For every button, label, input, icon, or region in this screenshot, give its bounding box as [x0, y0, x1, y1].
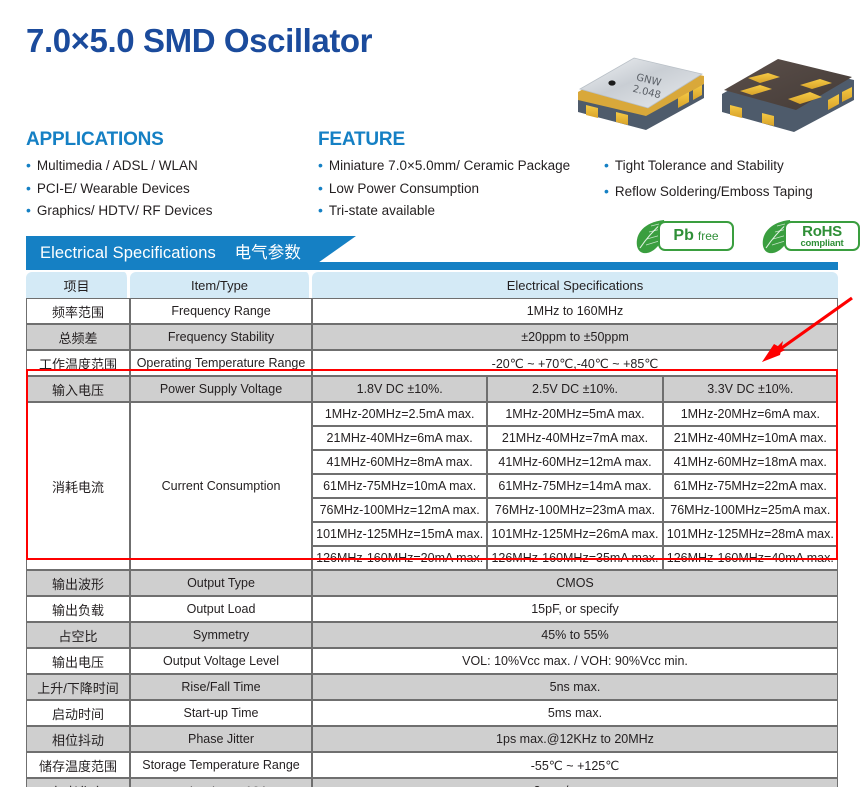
- row-label-cn: 上升/下降时间: [26, 674, 130, 700]
- row-label-cn: 启动时间: [26, 700, 130, 726]
- table-row: 输出电压 Output Voltage Level VOL: 10%Vcc ma…: [26, 648, 838, 674]
- cc-value: 101MHz-125MHz=15mA max.: [312, 522, 487, 546]
- compliant-label: compliant: [800, 239, 843, 249]
- column-header-specifications: Electrical Specifications: [312, 272, 838, 298]
- row-label-cn: 输出电压: [26, 648, 130, 674]
- free-label: free: [698, 230, 719, 242]
- table-row: 输出负载 Output Load 15pF, or specify: [26, 596, 838, 622]
- cc-value: 1MHz-20MHz=6mA max.: [663, 402, 838, 426]
- row-value: 1MHz to 160MHz: [312, 298, 838, 324]
- list-item: • Reflow Soldering/Emboss Taping: [604, 182, 813, 202]
- bullet-icon: •: [26, 201, 31, 220]
- cc-value: 76MHz-100MHz=12mA max.: [312, 498, 487, 522]
- table-row: 年老化率 Aging ( at 25℃ ) ±3ppm/year max.: [26, 778, 838, 787]
- row-value: CMOS: [312, 570, 838, 596]
- list-item-label: Graphics/ HDTV/ RF Devices: [37, 201, 213, 221]
- row-label-cn: 年老化率: [26, 778, 130, 787]
- bullet-icon: •: [604, 156, 609, 175]
- row-value: 5ns max.: [312, 674, 838, 700]
- list-item: • PCI-E/ Wearable Devices: [26, 179, 212, 199]
- datasheet-page: 7.0×5.0 SMD Oscillator: [0, 0, 866, 787]
- list-item: • Tight Tolerance and Stability: [604, 156, 813, 176]
- row-label-en: Output Load: [130, 596, 312, 622]
- list-item-label: Reflow Soldering/Emboss Taping: [615, 182, 813, 202]
- chip-bottom-view: [722, 59, 854, 132]
- row-label-en: Storage Temperature Range: [130, 752, 312, 778]
- cc-value: 126MHz-160MHz=35mA max.: [487, 546, 662, 570]
- current-consumption-label-cn: 消耗电流: [26, 402, 130, 570]
- list-item-label: Miniature 7.0×5.0mm/ Ceramic Package: [329, 156, 570, 176]
- banner-title-en: Electrical Specifications: [40, 244, 216, 262]
- feature-heading: FEATURE: [318, 129, 405, 151]
- cc-value: 21MHz-40MHz=7mA max.: [487, 426, 662, 450]
- row-label-en: Start-up Time: [130, 700, 312, 726]
- list-item: • Multimedia / ADSL / WLAN: [26, 156, 212, 176]
- product-image-group: GNW 2.048: [572, 42, 860, 142]
- row-label-en: Output Type: [130, 570, 312, 596]
- power-supply-value-2: 2.5V DC ±10%.: [487, 376, 662, 402]
- cc-value: 61MHz-75MHz=14mA max.: [487, 474, 662, 498]
- row-value: 1ps max.@12KHz to 20MHz: [312, 726, 838, 752]
- row-label-cn: 输出负载: [26, 596, 130, 622]
- table-row: 上升/下降时间 Rise/Fall Time 5ns max.: [26, 674, 838, 700]
- row-label-cn: 总频差: [26, 324, 130, 350]
- table-row: 占空比 Symmetry 45% to 55%: [26, 622, 838, 648]
- bullet-icon: •: [318, 179, 323, 198]
- rohs-label: RoHS: [802, 224, 842, 239]
- cc-value: 41MHz-60MHz=18mA max.: [663, 450, 838, 474]
- row-label-en: Output Voltage Level: [130, 648, 312, 674]
- row-label-cn: 占空比: [26, 622, 130, 648]
- cc-value: 41MHz-60MHz=12mA max.: [487, 450, 662, 474]
- chip-top-view: GNW 2.048: [578, 58, 704, 130]
- row-label-en: Aging ( at 25℃ ): [130, 778, 312, 787]
- bullet-icon: •: [318, 201, 323, 220]
- table-row: 输出波形 Output Type CMOS: [26, 570, 838, 596]
- table-body: 频率范围 Frequency Range 1MHz to 160MHz 总频差 …: [26, 298, 838, 787]
- list-item: • Miniature 7.0×5.0mm/ Ceramic Package: [318, 156, 570, 176]
- row-value: -20℃ ~ +70℃,-40℃ ~ +85℃: [312, 350, 838, 376]
- table-head: 项目 Item/Type Electrical Specifications: [26, 272, 838, 298]
- column-header-item-cn: 项目: [26, 272, 130, 298]
- row-label-cn: 工作温度范围: [26, 350, 130, 376]
- row-label-cn: 输入电压: [26, 376, 130, 402]
- pb-label: Pb: [673, 228, 693, 244]
- row-value: ±3ppm/year max.: [312, 778, 838, 787]
- electrical-specifications-table: 项目 Item/Type Electrical Specifications 频…: [26, 272, 838, 787]
- bullet-icon: •: [318, 156, 323, 175]
- rohs-badge: RoHS compliant: [760, 216, 860, 256]
- row-label-cn: 输出波形: [26, 570, 130, 596]
- applications-heading: APPLICATIONS: [26, 129, 164, 151]
- row-value: -55℃ ~ +125℃: [312, 752, 838, 778]
- cc-value: 1MHz-20MHz=2.5mA max.: [312, 402, 487, 426]
- list-item: • Tri-state available: [318, 201, 570, 221]
- column-header-item-en: Item/Type: [130, 272, 312, 298]
- cc-value: 1MHz-20MHz=5mA max.: [487, 402, 662, 426]
- feature-list-right: • Tight Tolerance and Stability • Reflow…: [604, 156, 813, 207]
- list-item-label: Multimedia / ADSL / WLAN: [37, 156, 198, 176]
- bullet-icon: •: [604, 182, 609, 201]
- rohs-plate: RoHS compliant: [784, 221, 860, 251]
- row-label-en: Rise/Fall Time: [130, 674, 312, 700]
- table-row-power-supply: 输入电压 Power Supply Voltage 1.8V DC ±10%. …: [26, 376, 838, 402]
- cc-value: 61MHz-75MHz=22mA max.: [663, 474, 838, 498]
- row-label-en: Operating Temperature Range: [130, 350, 312, 376]
- table-row: 启动时间 Start-up Time 5ms max.: [26, 700, 838, 726]
- current-consumption-label-en: Current Consumption: [130, 402, 312, 570]
- row-label-en: Power Supply Voltage: [130, 376, 312, 402]
- cc-value: 101MHz-125MHz=28mA max.: [663, 522, 838, 546]
- table-row-current-consumption: 消耗电流 Current Consumption 1MHz-20MHz=2.5m…: [26, 402, 838, 426]
- cc-value: 76MHz-100MHz=23mA max.: [487, 498, 662, 522]
- row-label-cn: 相位抖动: [26, 726, 130, 752]
- pb-free-plate: Pb free: [658, 221, 734, 251]
- row-label-en: Frequency Stability: [130, 324, 312, 350]
- page-title: 7.0×5.0 SMD Oscillator: [26, 22, 372, 60]
- cc-value: 21MHz-40MHz=6mA max.: [312, 426, 487, 450]
- row-label-en: Frequency Range: [130, 298, 312, 324]
- banner-title-cn: 电气参数: [235, 244, 301, 262]
- list-item: • Low Power Consumption: [318, 179, 570, 199]
- cc-value: 126MHz-160MHz=40mA max.: [663, 546, 838, 570]
- row-label-en: Symmetry: [130, 622, 312, 648]
- row-value: 45% to 55%: [312, 622, 838, 648]
- cc-value: 61MHz-75MHz=10mA max.: [312, 474, 487, 498]
- row-value: VOL: 10%Vcc max. / VOH: 90%Vcc min.: [312, 648, 838, 674]
- bullet-icon: •: [26, 156, 31, 175]
- cc-value: 41MHz-60MHz=8mA max.: [312, 450, 487, 474]
- list-item-label: Low Power Consumption: [329, 179, 479, 199]
- row-label-cn: 频率范围: [26, 298, 130, 324]
- applications-list: • Multimedia / ADSL / WLAN • PCI-E/ Wear…: [26, 156, 212, 224]
- row-value: 5ms max.: [312, 700, 838, 726]
- oscillator-package-photos: GNW 2.048: [572, 42, 860, 142]
- table-row: 工作温度范围 Operating Temperature Range -20℃ …: [26, 350, 838, 376]
- list-item: • Graphics/ HDTV/ RF Devices: [26, 201, 212, 221]
- row-value: ±20ppm to ±50ppm: [312, 324, 838, 350]
- row-value: 15pF, or specify: [312, 596, 838, 622]
- cc-value: 21MHz-40MHz=10mA max.: [663, 426, 838, 450]
- list-item-label: Tight Tolerance and Stability: [615, 156, 784, 176]
- table-row: 储存温度范围 Storage Temperature Range -55℃ ~ …: [26, 752, 838, 778]
- row-label-cn: 储存温度范围: [26, 752, 130, 778]
- row-label-en: Phase Jitter: [130, 726, 312, 752]
- feature-list-left: • Miniature 7.0×5.0mm/ Ceramic Package •…: [318, 156, 570, 224]
- table-row: 总频差 Frequency Stability ±20ppm to ±50ppm: [26, 324, 838, 350]
- cc-value: 126MHz-160MHz=20mA max.: [312, 546, 487, 570]
- section-banner-title: Electrical Specifications 电气参数: [40, 239, 301, 263]
- table-row: 频率范围 Frequency Range 1MHz to 160MHz: [26, 298, 838, 324]
- table-row: 相位抖动 Phase Jitter 1ps max.@12KHz to 20MH…: [26, 726, 838, 752]
- power-supply-value-1: 1.8V DC ±10%.: [312, 376, 487, 402]
- list-item-label: Tri-state available: [329, 201, 435, 221]
- table-header-row: 项目 Item/Type Electrical Specifications: [26, 272, 838, 298]
- compliance-badges: Pb free RoHS compliant: [634, 216, 860, 256]
- cc-value: 76MHz-100MHz=25mA max.: [663, 498, 838, 522]
- bullet-icon: •: [26, 179, 31, 198]
- pb-free-badge: Pb free: [634, 216, 734, 256]
- list-item-label: PCI-E/ Wearable Devices: [37, 179, 190, 199]
- cc-value: 101MHz-125MHz=26mA max.: [487, 522, 662, 546]
- power-supply-value-3: 3.3V DC ±10%.: [663, 376, 838, 402]
